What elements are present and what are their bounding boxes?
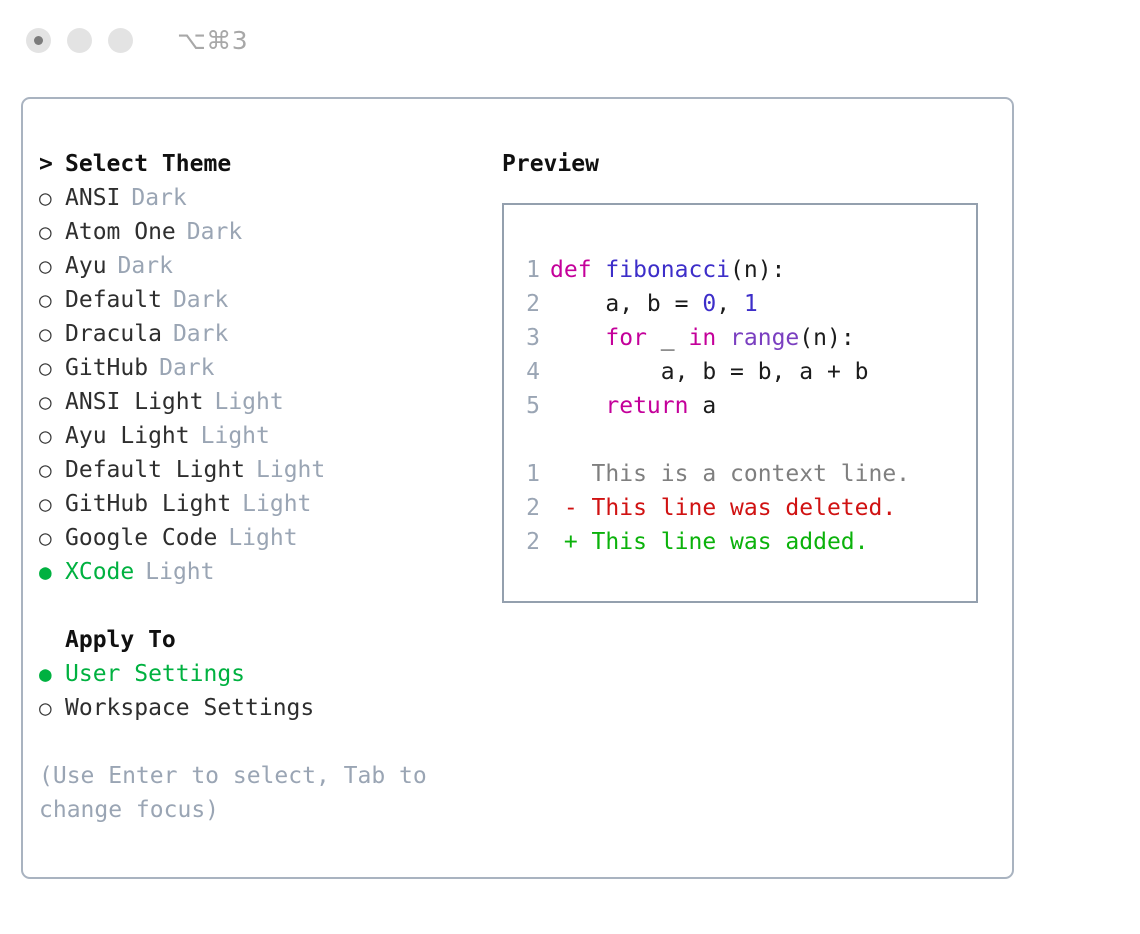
- code-token-txt: _: [647, 325, 689, 351]
- line-number: 2: [504, 525, 550, 559]
- theme-name: Google Code: [65, 521, 217, 555]
- radio-icon-selected: ●: [39, 657, 65, 691]
- theme-list-item-github-dark[interactable]: ○ GitHub Dark: [39, 351, 479, 385]
- code-sample: 1def fibonacci(n):2 a, b = 0, 13 for _ i…: [504, 253, 976, 423]
- theme-name: ANSI: [65, 181, 120, 215]
- code-text: a, b = 0, 1: [550, 287, 758, 321]
- keyboard-shortcut-label: ⌥⌘3: [177, 28, 248, 53]
- diff-line: 1 This is a context line.: [504, 457, 976, 491]
- window-controls: [26, 28, 133, 53]
- theme-list-item-default-light[interactable]: ○ Default Light Light: [39, 453, 479, 487]
- caret-icon: >: [39, 147, 65, 181]
- code-token-num: 1: [744, 291, 758, 317]
- diff-line: 2 + This line was added.: [504, 525, 976, 559]
- apply-to-label: Workspace Settings: [65, 691, 314, 725]
- radio-icon: ○: [39, 181, 65, 215]
- theme-variant: Dark: [118, 249, 173, 283]
- radio-icon: ○: [39, 487, 65, 521]
- radio-icon: ○: [39, 385, 65, 419]
- theme-list-item-dracula-dark[interactable]: ○ Dracula Dark: [39, 317, 479, 351]
- record-dot-inner: [34, 36, 43, 45]
- code-line: 1def fibonacci(n):: [504, 253, 976, 287]
- radio-icon: ○: [39, 317, 65, 351]
- list-spacer: [39, 589, 479, 623]
- theme-name: XCode: [65, 555, 134, 589]
- apply-to-workspace-settings[interactable]: ○ Workspace Settings: [39, 691, 479, 725]
- code-line: 4 a, b = b, a + b: [504, 355, 976, 389]
- theme-variant: Dark: [173, 283, 228, 317]
- line-number: 1: [504, 253, 550, 287]
- code-token-txt: [550, 325, 605, 351]
- theme-name: Atom One: [65, 215, 176, 249]
- code-token-num: 0: [702, 291, 716, 317]
- theme-variant: Light: [228, 521, 297, 555]
- code-token-bn: range: [730, 325, 799, 351]
- code-line: 2 a, b = 0, 1: [504, 287, 976, 321]
- line-number: 1: [504, 457, 550, 491]
- preview-column: Preview 1def fibonacci(n):2 a, b = 0, 13…: [502, 147, 982, 603]
- main-panel: > Select Theme ○ ANSI Dark ○ Atom One Da…: [21, 97, 1014, 879]
- theme-variant: Dark: [187, 215, 242, 249]
- theme-variant: Dark: [159, 351, 214, 385]
- theme-name: ANSI Light: [65, 385, 203, 419]
- radio-icon: ○: [39, 249, 65, 283]
- theme-variant: Dark: [173, 317, 228, 351]
- code-token-txt: a, b =: [550, 291, 702, 317]
- radio-icon: ○: [39, 419, 65, 453]
- diff-sample: 1 This is a context line.2 - This line w…: [504, 457, 976, 559]
- code-line: 5 return a: [504, 389, 976, 423]
- theme-name: Ayu Light: [65, 419, 190, 453]
- code-token-txt: [550, 393, 605, 419]
- radio-icon: ○: [39, 521, 65, 555]
- code-token-txt: a, b = b, a + b: [550, 359, 869, 385]
- code-text: return a: [550, 389, 716, 423]
- theme-variant: Light: [242, 487, 311, 521]
- code-token-kw: for: [605, 325, 647, 351]
- diff-text-del: - This line was deleted.: [550, 491, 896, 525]
- theme-list-item-ansi-dark[interactable]: ○ ANSI Dark: [39, 181, 479, 215]
- preview-box: 1def fibonacci(n):2 a, b = 0, 13 for _ i…: [502, 203, 978, 603]
- plain-dot-icon-2[interactable]: [67, 28, 92, 53]
- code-token-txt: ,: [716, 291, 744, 317]
- code-line: 3 for _ in range(n):: [504, 321, 976, 355]
- apply-to-user-settings[interactable]: ● User Settings: [39, 657, 479, 691]
- code-text: a, b = b, a + b: [550, 355, 869, 389]
- app-window: ⌥⌘3 > Select Theme ○ ANSI Dark ○ Atom On…: [0, 0, 1140, 934]
- code-token-txt: [716, 325, 730, 351]
- code-token-kw: in: [688, 325, 716, 351]
- theme-name: Default: [65, 283, 162, 317]
- code-text: def fibonacci(n):: [550, 253, 785, 287]
- select-theme-header: > Select Theme: [39, 147, 479, 181]
- radio-icon-selected: ●: [39, 555, 65, 589]
- radio-icon: ○: [39, 215, 65, 249]
- code-token-fn: fibonacci: [605, 257, 730, 283]
- theme-list-item-google-code[interactable]: ○ Google Code Light: [39, 521, 479, 555]
- line-number: 5: [504, 389, 550, 423]
- radio-icon: ○: [39, 453, 65, 487]
- apply-to-label: User Settings: [65, 657, 245, 691]
- theme-variant: Light: [256, 453, 325, 487]
- page-title: Select Theme: [65, 147, 231, 181]
- apply-to-heading: Apply To: [39, 623, 479, 657]
- theme-variant: Light: [201, 419, 270, 453]
- theme-picker-column: > Select Theme ○ ANSI Dark ○ Atom One Da…: [39, 147, 479, 827]
- keyboard-hint-text: (Use Enter to select, Tab to change focu…: [39, 759, 439, 827]
- theme-variant: Dark: [131, 181, 186, 215]
- code-token-kw: def: [550, 257, 605, 283]
- theme-name: GitHub Light: [65, 487, 231, 521]
- theme-list-item-ansi-light[interactable]: ○ ANSI Light Light: [39, 385, 479, 419]
- line-number: 4: [504, 355, 550, 389]
- theme-list-item-ayu-light[interactable]: ○ Ayu Light Light: [39, 419, 479, 453]
- diff-line: 2 - This line was deleted.: [504, 491, 976, 525]
- theme-list-item-default-dark[interactable]: ○ Default Dark: [39, 283, 479, 317]
- diff-text-add: + This line was added.: [550, 525, 869, 559]
- plain-dot-icon-3[interactable]: [108, 28, 133, 53]
- theme-name: Dracula: [65, 317, 162, 351]
- theme-list-item-xcode-light[interactable]: ● XCode Light: [39, 555, 479, 589]
- theme-variant: Light: [214, 385, 283, 419]
- code-diff-gap: [504, 423, 976, 457]
- theme-list-item-ayu-dark[interactable]: ○ Ayu Dark: [39, 249, 479, 283]
- code-token-txt: a: [688, 393, 716, 419]
- preview-heading: Preview: [502, 147, 982, 181]
- line-number: 2: [504, 287, 550, 321]
- radio-icon: ○: [39, 351, 65, 385]
- theme-name: GitHub: [65, 351, 148, 385]
- line-number: 3: [504, 321, 550, 355]
- code-token-txt: (n):: [730, 257, 785, 283]
- code-token-kw: return: [605, 393, 688, 419]
- theme-list-item-atom-one-dark[interactable]: ○ Atom One Dark: [39, 215, 479, 249]
- theme-variant: Light: [145, 555, 214, 589]
- line-number: 2: [504, 491, 550, 525]
- radio-icon: ○: [39, 691, 65, 725]
- radio-icon: ○: [39, 283, 65, 317]
- theme-name: Default Light: [65, 453, 245, 487]
- theme-name: Ayu: [65, 249, 107, 283]
- theme-list-item-github-light[interactable]: ○ GitHub Light Light: [39, 487, 479, 521]
- record-dot-icon[interactable]: [26, 28, 51, 53]
- code-text: for _ in range(n):: [550, 321, 855, 355]
- window-titlebar: ⌥⌘3: [0, 0, 1140, 80]
- diff-text-ctx: This is a context line.: [550, 457, 910, 491]
- code-token-txt: (n):: [799, 325, 854, 351]
